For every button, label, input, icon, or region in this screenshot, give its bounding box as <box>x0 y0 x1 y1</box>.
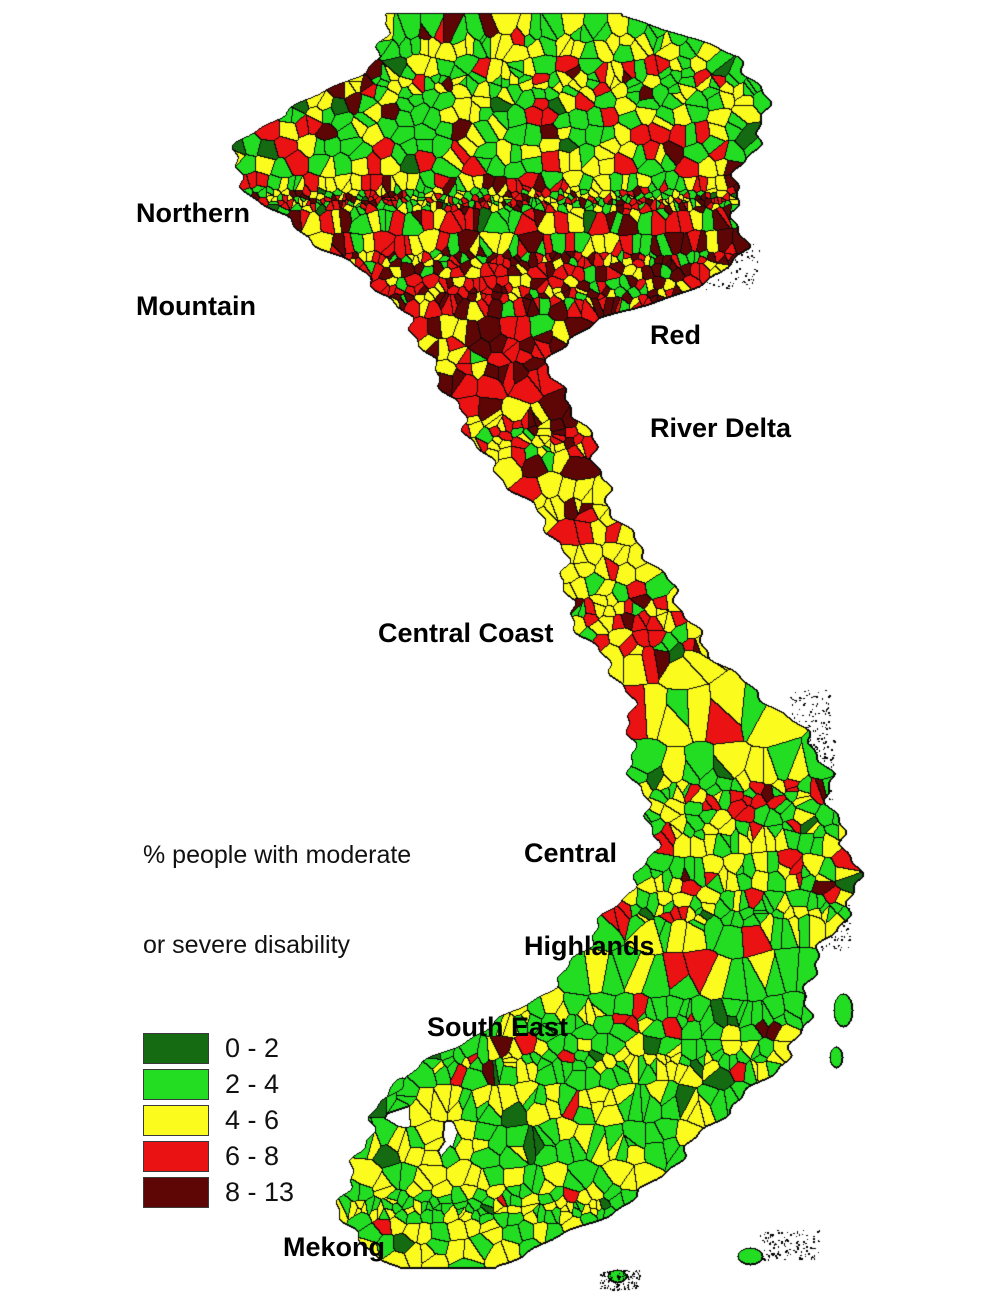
region-label-line: Mekong <box>283 1232 385 1263</box>
region-label-line: Central <box>524 838 655 869</box>
legend-swatch-icon <box>143 1141 209 1172</box>
legend-item-4-6: 4 - 6 <box>143 1102 543 1138</box>
region-label-central-coast: Central Coast <box>378 556 554 711</box>
legend-items: 0 - 2 2 - 4 4 - 6 6 - 8 8 - 13 <box>143 1030 543 1210</box>
legend-label: 4 - 6 <box>225 1105 279 1136</box>
region-label-red-river-delta: Red River Delta <box>650 258 791 506</box>
legend-item-8-13: 8 - 13 <box>143 1174 543 1210</box>
legend-swatch-icon <box>143 1069 209 1100</box>
region-label-line: Red <box>650 320 791 351</box>
map-legend: % people with moderate or severe disabil… <box>143 780 543 1210</box>
legend-swatch-icon <box>143 1033 209 1064</box>
region-label-line: Northern <box>136 198 256 229</box>
legend-label: 6 - 8 <box>225 1141 279 1172</box>
legend-title-line2: or severe disability <box>143 930 543 960</box>
legend-swatch-icon <box>143 1105 209 1136</box>
region-label-line: River Delta <box>650 413 791 444</box>
legend-label: 0 - 2 <box>225 1033 279 1064</box>
legend-item-6-8: 6 - 8 <box>143 1138 543 1174</box>
legend-title-line1: % people with moderate <box>143 840 543 870</box>
legend-item-2-4: 2 - 4 <box>143 1066 543 1102</box>
region-label-line: Central Coast <box>378 618 554 649</box>
legend-title: % people with moderate or severe disabil… <box>143 780 543 1020</box>
legend-label: 2 - 4 <box>225 1069 279 1100</box>
legend-label: 8 - 13 <box>225 1177 294 1208</box>
region-label-line: Mountain <box>136 291 256 322</box>
legend-item-0-2: 0 - 2 <box>143 1030 543 1066</box>
region-label-northern-mountain: Northern Mountain <box>136 136 256 384</box>
map-figure: Northern Mountain Red River Delta Centra… <box>0 0 1000 1306</box>
legend-swatch-icon <box>143 1177 209 1208</box>
